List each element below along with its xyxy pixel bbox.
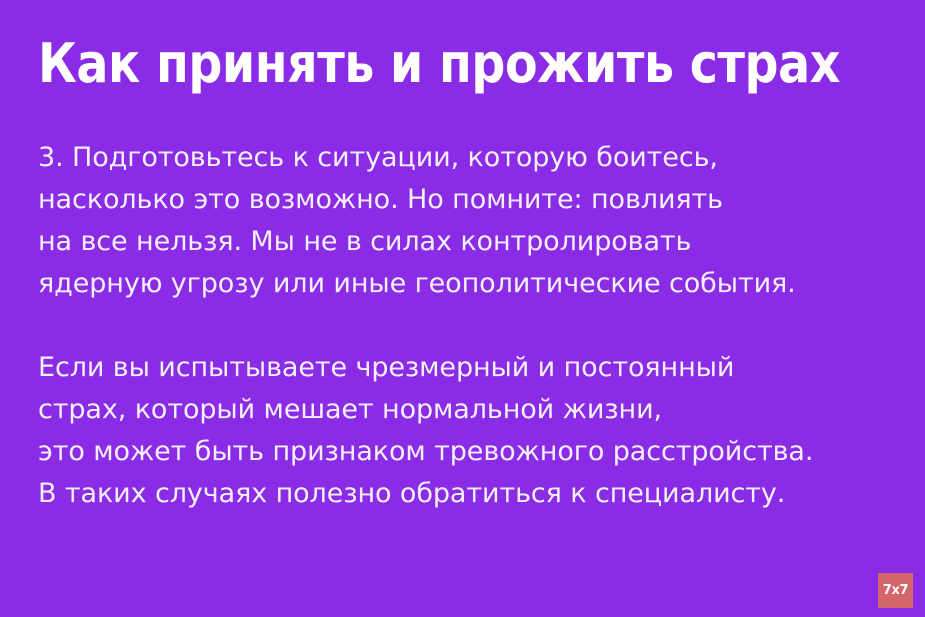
- logo-badge: 7x7: [878, 573, 913, 608]
- paragraph-1: 3. Подготовьтесь к ситуации, которую бои…: [38, 137, 898, 305]
- paragraph-1-line-2: насколько это возможно. Но помните: повл…: [38, 179, 898, 221]
- slide-canvas: Как принять и прожить страх 3. Подготовь…: [0, 0, 925, 617]
- logo-badge-label: 7x7: [883, 584, 909, 597]
- paragraph-2-line-3: это может быть признаком тревожного расс…: [38, 431, 898, 473]
- paragraph-2-line-4: В таких случаях полезно обратиться к спе…: [38, 473, 898, 515]
- paragraph-2-line-1: Если вы испытываете чрезмерный и постоян…: [38, 347, 898, 389]
- body-copy: 3. Подготовьтесь к ситуации, которую бои…: [38, 137, 898, 515]
- paragraph-1-line-1: 3. Подготовьтесь к ситуации, которую бои…: [38, 137, 898, 179]
- page-title: Как принять и прожить страх: [38, 36, 786, 92]
- paragraph-2: Если вы испытываете чрезмерный и постоян…: [38, 347, 898, 515]
- paragraph-2-line-2: страх, который мешает нормальной жизни,: [38, 389, 898, 431]
- paragraph-1-line-4: ядерную угрозу или иные геополитические …: [38, 263, 898, 305]
- paragraph-1-line-3: на все нельзя. Мы не в силах контролиров…: [38, 221, 898, 263]
